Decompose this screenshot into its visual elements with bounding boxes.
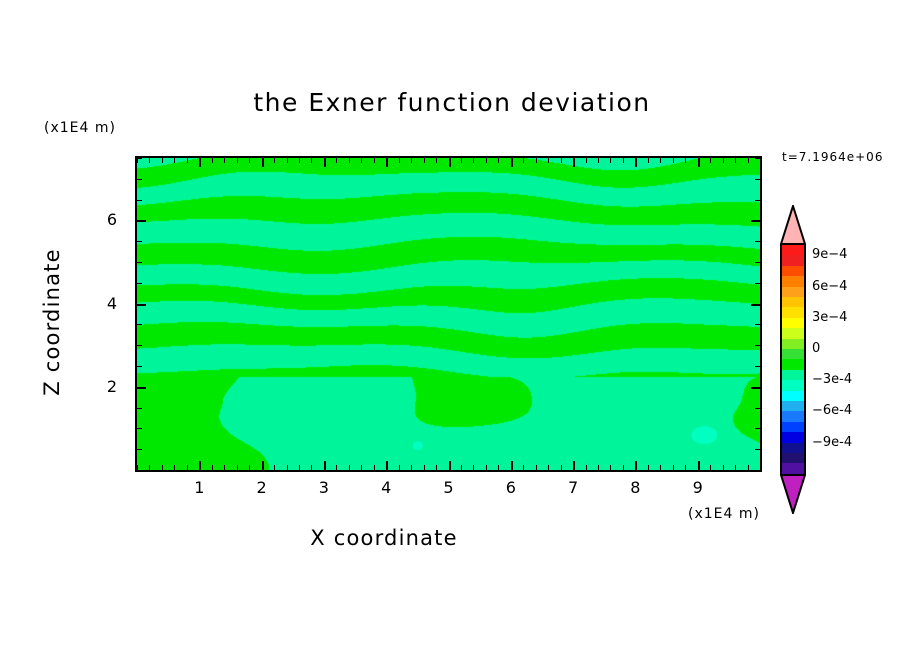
y-minor-tick-right bbox=[755, 366, 760, 367]
z-axis-unit-label: (x1E4 m) bbox=[44, 120, 116, 136]
x-minor-tick bbox=[561, 465, 562, 470]
x-minor-tick-top bbox=[336, 158, 337, 163]
x-tick-label: 7 bbox=[553, 478, 593, 497]
x-minor-tick-top bbox=[174, 158, 175, 163]
x-minor-tick bbox=[486, 465, 487, 470]
x-minor-tick bbox=[237, 465, 238, 470]
colorbar-top-arrow bbox=[780, 205, 806, 245]
x-tick-label: 3 bbox=[304, 478, 344, 497]
y-major-tick-right bbox=[751, 220, 760, 222]
x-minor-tick-top bbox=[710, 158, 711, 163]
y-minor-tick-right bbox=[755, 345, 760, 346]
x-minor-tick-top bbox=[274, 158, 275, 163]
x-minor-tick bbox=[187, 465, 188, 470]
y-tick-label: 4 bbox=[97, 294, 127, 313]
x-tick-label: 9 bbox=[678, 478, 718, 497]
y-minor-tick bbox=[137, 241, 142, 242]
x-minor-tick-top bbox=[586, 158, 587, 163]
x-major-tick-top bbox=[635, 158, 637, 167]
x-minor-tick-top bbox=[735, 158, 736, 163]
x-minor-tick-top bbox=[648, 158, 649, 163]
y-minor-tick-right bbox=[755, 241, 760, 242]
x-major-tick bbox=[386, 461, 388, 470]
x-tick-label: 6 bbox=[491, 478, 531, 497]
colorbar-tick-label: 6e−4 bbox=[812, 279, 847, 294]
y-minor-tick bbox=[137, 324, 142, 325]
x-minor-tick-top bbox=[162, 158, 163, 163]
x-minor-tick bbox=[174, 465, 175, 470]
y-minor-tick-right bbox=[755, 200, 760, 201]
y-minor-tick bbox=[137, 283, 142, 284]
x-minor-tick bbox=[710, 465, 711, 470]
x-minor-tick-top bbox=[548, 158, 549, 163]
x-minor-tick-top bbox=[224, 158, 225, 163]
colorbar-tick-label: −6e-4 bbox=[812, 403, 852, 418]
x-minor-tick bbox=[424, 465, 425, 470]
x-major-tick-top bbox=[199, 158, 201, 167]
x-minor-tick bbox=[274, 465, 275, 470]
x-minor-tick bbox=[399, 465, 400, 470]
x-minor-tick-top bbox=[249, 158, 250, 163]
x-minor-tick-top bbox=[311, 158, 312, 163]
x-minor-tick bbox=[523, 465, 524, 470]
x-minor-tick bbox=[287, 465, 288, 470]
x-minor-tick bbox=[461, 465, 462, 470]
x-major-tick-top bbox=[449, 158, 451, 167]
x-major-tick-top bbox=[511, 158, 513, 167]
x-minor-tick bbox=[648, 465, 649, 470]
x-tick-label: 5 bbox=[429, 478, 469, 497]
x-minor-tick bbox=[249, 465, 250, 470]
x-minor-tick-top bbox=[748, 158, 749, 163]
x-minor-tick bbox=[299, 465, 300, 470]
x-minor-tick bbox=[498, 465, 499, 470]
x-major-tick-top bbox=[698, 158, 700, 167]
x-minor-tick-top bbox=[411, 158, 412, 163]
x-minor-tick bbox=[598, 465, 599, 470]
y-minor-tick-right bbox=[755, 158, 760, 159]
x-minor-tick-top bbox=[237, 158, 238, 163]
x-minor-tick-top bbox=[299, 158, 300, 163]
colorbar-tick-label: −3e-4 bbox=[812, 372, 852, 387]
y-major-tick bbox=[137, 387, 146, 389]
x-minor-tick bbox=[162, 465, 163, 470]
x-minor-tick-top bbox=[685, 158, 686, 163]
x-minor-tick bbox=[548, 465, 549, 470]
x-tick-label: 8 bbox=[615, 478, 655, 497]
y-minor-tick-right bbox=[755, 179, 760, 180]
colorbar-bottom-arrow bbox=[780, 474, 806, 514]
x-minor-tick bbox=[673, 465, 674, 470]
x-major-tick bbox=[698, 461, 700, 470]
x-minor-tick bbox=[735, 465, 736, 470]
x-tick-label: 4 bbox=[366, 478, 406, 497]
x-axis-title: X coordinate bbox=[0, 526, 768, 550]
x-major-tick-top bbox=[386, 158, 388, 167]
y-minor-tick bbox=[137, 366, 142, 367]
y-major-tick-right bbox=[751, 304, 760, 306]
x-minor-tick-top bbox=[361, 158, 362, 163]
x-major-tick bbox=[199, 461, 201, 470]
y-minor-tick bbox=[137, 470, 142, 471]
x-minor-tick-top bbox=[187, 158, 188, 163]
x-major-tick-top bbox=[262, 158, 264, 167]
x-minor-tick-top bbox=[760, 158, 761, 163]
figure-canvas: the Exner function deviation (x1E4 m) t=… bbox=[0, 0, 904, 654]
colorbar-tick-label: 9e−4 bbox=[812, 247, 847, 262]
y-minor-tick bbox=[137, 200, 142, 201]
y-minor-tick bbox=[137, 158, 142, 159]
y-axis-title: Z coordinate bbox=[40, 222, 64, 422]
y-tick-label: 2 bbox=[97, 377, 127, 396]
x-minor-tick-top bbox=[349, 158, 350, 163]
y-minor-tick-right bbox=[755, 449, 760, 450]
chart-title: the Exner function deviation bbox=[0, 88, 904, 117]
y-minor-tick-right bbox=[755, 470, 760, 471]
y-minor-tick bbox=[137, 428, 142, 429]
contour-plot-area bbox=[135, 156, 762, 472]
x-tick-label: 2 bbox=[242, 478, 282, 497]
x-minor-tick-top bbox=[536, 158, 537, 163]
x-minor-tick bbox=[349, 465, 350, 470]
y-minor-tick bbox=[137, 345, 142, 346]
x-minor-tick bbox=[660, 465, 661, 470]
x-minor-tick-top bbox=[610, 158, 611, 163]
colorbar: 9e−46e−43e−40−3e-4−6e-4−9e-4 bbox=[780, 205, 810, 525]
x-major-tick bbox=[449, 461, 451, 470]
x-minor-tick bbox=[723, 465, 724, 470]
y-minor-tick-right bbox=[755, 324, 760, 325]
x-minor-tick bbox=[411, 465, 412, 470]
x-axis-unit-label: (x1E4 m) bbox=[688, 506, 760, 522]
x-minor-tick-top bbox=[287, 158, 288, 163]
y-minor-tick bbox=[137, 262, 142, 263]
x-minor-tick bbox=[610, 465, 611, 470]
x-minor-tick bbox=[149, 465, 150, 470]
x-minor-tick bbox=[760, 465, 761, 470]
x-minor-tick-top bbox=[374, 158, 375, 163]
x-major-tick bbox=[262, 461, 264, 470]
x-minor-tick-top bbox=[212, 158, 213, 163]
x-minor-tick-top bbox=[523, 158, 524, 163]
x-minor-tick-top bbox=[498, 158, 499, 163]
x-major-tick-top bbox=[573, 158, 575, 167]
x-tick-label: 1 bbox=[179, 478, 219, 497]
x-minor-tick bbox=[212, 465, 213, 470]
x-minor-tick-top bbox=[473, 158, 474, 163]
x-minor-tick-top bbox=[486, 158, 487, 163]
x-major-tick-top bbox=[324, 158, 326, 167]
x-minor-tick bbox=[224, 465, 225, 470]
x-minor-tick-top bbox=[660, 158, 661, 163]
x-minor-tick bbox=[685, 465, 686, 470]
x-major-tick bbox=[511, 461, 513, 470]
x-minor-tick bbox=[536, 465, 537, 470]
colorbar-tick-label: 3e−4 bbox=[812, 310, 847, 325]
x-minor-tick-top bbox=[436, 158, 437, 163]
x-minor-tick bbox=[623, 465, 624, 470]
x-major-tick bbox=[573, 461, 575, 470]
x-minor-tick bbox=[361, 465, 362, 470]
x-major-tick bbox=[324, 461, 326, 470]
x-minor-tick bbox=[311, 465, 312, 470]
x-minor-tick-top bbox=[598, 158, 599, 163]
x-minor-tick bbox=[586, 465, 587, 470]
x-minor-tick bbox=[336, 465, 337, 470]
x-minor-tick-top bbox=[149, 158, 150, 163]
x-minor-tick-top bbox=[461, 158, 462, 163]
x-minor-tick-top bbox=[623, 158, 624, 163]
x-minor-tick-top bbox=[424, 158, 425, 163]
x-minor-tick bbox=[374, 465, 375, 470]
x-minor-tick-top bbox=[561, 158, 562, 163]
y-major-tick bbox=[137, 304, 146, 306]
x-minor-tick-top bbox=[673, 158, 674, 163]
y-minor-tick-right bbox=[755, 262, 760, 263]
x-major-tick bbox=[635, 461, 637, 470]
y-tick-label: 6 bbox=[97, 210, 127, 229]
contour-field bbox=[137, 158, 760, 470]
colorbar-tick-label: −9e-4 bbox=[812, 435, 852, 450]
y-minor-tick-right bbox=[755, 283, 760, 284]
y-major-tick-right bbox=[751, 387, 760, 389]
time-stamp-label: t=7.1964e+06 bbox=[782, 150, 883, 164]
x-minor-tick bbox=[748, 465, 749, 470]
x-minor-tick bbox=[473, 465, 474, 470]
x-minor-tick bbox=[436, 465, 437, 470]
y-minor-tick-right bbox=[755, 428, 760, 429]
y-minor-tick bbox=[137, 179, 142, 180]
y-minor-tick bbox=[137, 408, 142, 409]
x-minor-tick-top bbox=[399, 158, 400, 163]
y-minor-tick-right bbox=[755, 408, 760, 409]
y-major-tick bbox=[137, 220, 146, 222]
y-minor-tick bbox=[137, 449, 142, 450]
colorbar-tick-label: 0 bbox=[812, 341, 820, 356]
x-minor-tick-top bbox=[723, 158, 724, 163]
